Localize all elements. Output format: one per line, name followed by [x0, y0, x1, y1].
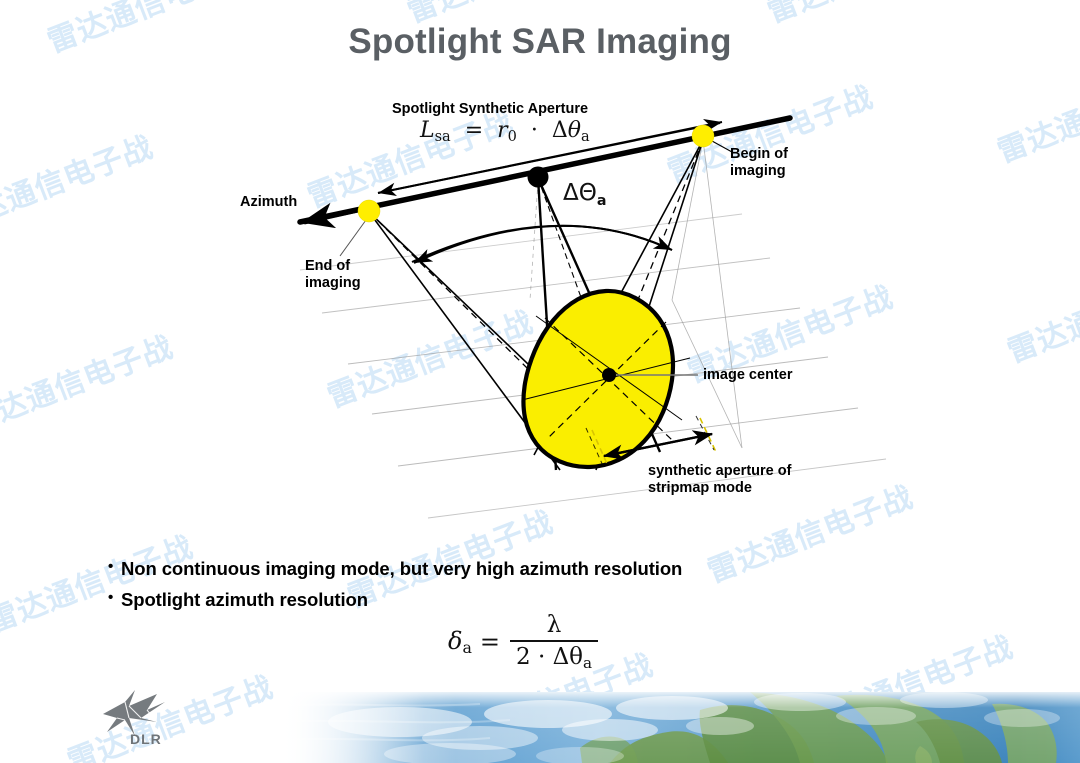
yellow-dot-begin-of-imaging: [692, 125, 714, 147]
bullet-marker: •: [108, 589, 121, 608]
formula-denominator: 2 · Δθa: [510, 642, 598, 672]
black-dot-mid-track: [528, 167, 549, 188]
end-of-imaging-label: End of imaging: [305, 258, 361, 292]
black-dot-image-center: [602, 368, 616, 382]
bullet-list: • Non continuous imaging mode, but very …: [108, 558, 682, 620]
stripmap-aperture-label: synthetic aperture of stripmap mode: [648, 463, 791, 497]
leader-line-begin: [712, 141, 732, 152]
slide-root: 雷达通信电子战 雷达通信电子战 雷达通信电子战 雷达通信电子战 雷达通信电子战 …: [0, 0, 1080, 763]
aperture-caption: Spotlight Synthetic Aperture: [392, 101, 588, 118]
azimuth-label: Azimuth: [240, 194, 297, 211]
formula-lhs-symbol: δ: [448, 627, 462, 655]
bullet-text: Non continuous imaging mode, but very hi…: [121, 558, 682, 580]
formula-equals: =: [480, 628, 500, 656]
formula-numerator: λ: [537, 612, 572, 640]
earth-banner-image: [280, 692, 1080, 763]
bullet-item: • Non continuous imaging mode, but very …: [108, 558, 682, 580]
formula-synthetic-aperture-length: Lsa = r0 · Δθa: [420, 118, 590, 145]
leader-line-end: [340, 220, 366, 256]
page-title: Spotlight SAR Imaging: [0, 22, 1080, 62]
formula-fraction: λ 2 · Δθa: [510, 612, 598, 672]
bullet-marker: •: [108, 558, 121, 577]
yellow-dot-end-of-imaging: [358, 200, 380, 222]
squint-angle-label: ΔΘa: [563, 180, 606, 209]
dlr-logo-text: DLR: [130, 731, 162, 747]
bullet-item: • Spotlight azimuth resolution: [108, 589, 682, 611]
begin-of-imaging-label: Begin of imaging: [730, 146, 788, 180]
formula-azimuth-resolution: δa = λ 2 · Δθa: [448, 612, 598, 672]
image-center-label: image center: [703, 367, 792, 384]
bullet-text: Spotlight azimuth resolution: [121, 589, 368, 611]
formula-lhs-subscript: a: [462, 638, 471, 657]
